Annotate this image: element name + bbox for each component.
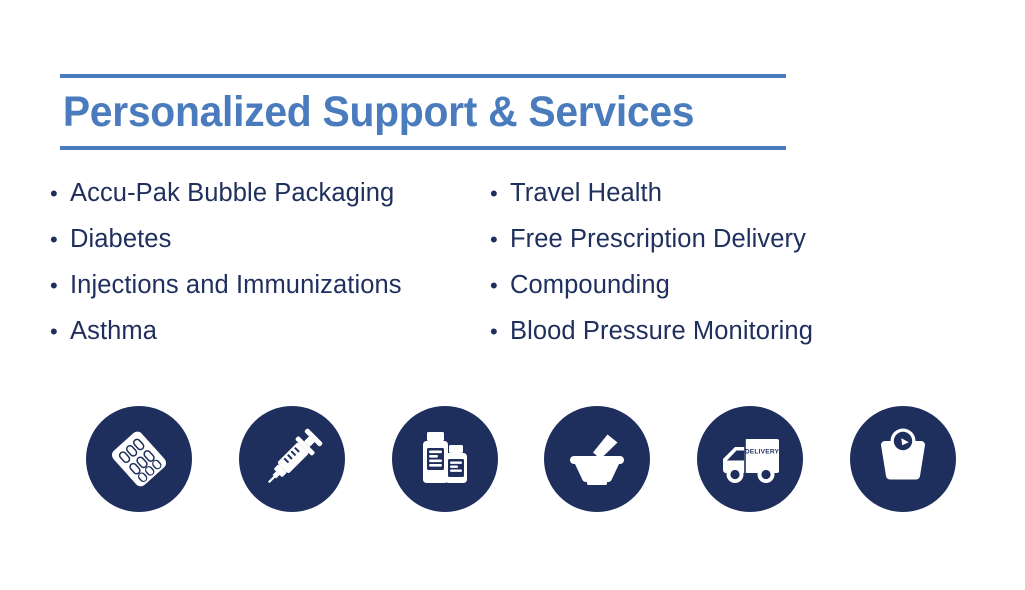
service-label: Asthma	[70, 314, 157, 348]
list-item: • Compounding	[490, 268, 1025, 314]
list-item: • Diabetes	[50, 222, 490, 268]
icon-badge-pill-bottles	[392, 406, 498, 512]
service-label: Accu-Pak Bubble Packaging	[70, 176, 394, 210]
icon-badge-blister-pack	[86, 406, 192, 512]
service-label: Diabetes	[70, 222, 171, 256]
list-item: • Free Prescription Delivery	[490, 222, 1025, 268]
service-label: Compounding	[510, 268, 670, 302]
bullet-icon: •	[490, 315, 510, 349]
services-column-right: • Travel Health • Free Prescription Deli…	[490, 176, 1025, 360]
service-label: Injections and Immunizations	[70, 268, 402, 302]
pill-bottles-icon	[412, 426, 478, 492]
service-icon-row: DELIVERY	[86, 406, 956, 514]
services-columns: • Accu-Pak Bubble Packaging • Diabetes •…	[0, 176, 1025, 360]
slide-canvas: Personalized Support & Services • Accu-P…	[0, 0, 1025, 590]
blister-pack-icon	[105, 425, 173, 493]
list-item: • Blood Pressure Monitoring	[490, 314, 1025, 360]
list-item: • Injections and Immunizations	[50, 268, 490, 314]
service-label: Travel Health	[510, 176, 662, 210]
icon-badge-weight-scale	[850, 406, 956, 512]
services-column-left: • Accu-Pak Bubble Packaging • Diabetes •…	[0, 176, 490, 360]
bullet-icon: •	[490, 223, 510, 257]
delivery-truck-icon: DELIVERY	[713, 422, 787, 496]
icon-badge-syringe	[239, 406, 345, 512]
icon-badge-mortar-pestle	[544, 406, 650, 512]
service-label: Blood Pressure Monitoring	[510, 314, 813, 348]
list-item: • Asthma	[50, 314, 490, 360]
weight-scale-icon	[870, 426, 936, 492]
page-title: Personalized Support & Services	[60, 78, 750, 146]
truck-delivery-text: DELIVERY	[745, 449, 780, 456]
syringe-icon	[257, 424, 327, 494]
list-item: • Travel Health	[490, 176, 1025, 222]
bullet-icon: •	[490, 177, 510, 211]
list-item: • Accu-Pak Bubble Packaging	[50, 176, 490, 222]
service-label: Free Prescription Delivery	[510, 222, 806, 256]
bullet-icon: •	[50, 269, 70, 303]
bullet-icon: •	[50, 223, 70, 257]
title-block: Personalized Support & Services	[60, 74, 786, 150]
mortar-pestle-icon	[562, 424, 632, 494]
icon-badge-delivery-truck: DELIVERY	[697, 406, 803, 512]
bullet-icon: •	[50, 315, 70, 349]
bullet-icon: •	[50, 177, 70, 211]
bullet-icon: •	[490, 269, 510, 303]
title-rule-bottom	[60, 146, 786, 150]
